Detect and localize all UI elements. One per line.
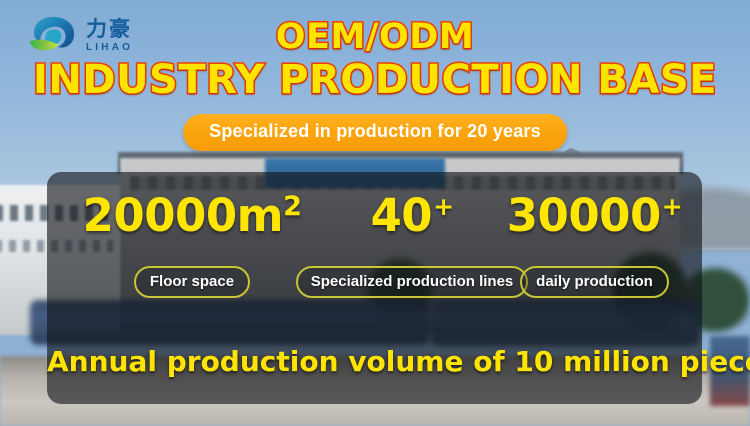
stats-labels-row: Floor space Specialized production lines… — [47, 266, 702, 298]
stat-label-floor-space: Floor space — [134, 266, 250, 298]
stat-value-floor-space: 20000m2 — [47, 190, 337, 242]
stats-numbers-row: 20000m2 40+ 30000+ — [47, 190, 702, 242]
stat-item-daily-production: 30000+ — [487, 190, 702, 242]
stat-label-wrap-floor-space: Floor space — [47, 266, 337, 298]
experience-badge: Specialized in production for 20 years — [183, 114, 567, 151]
headline-line-1: OEM/ODM — [0, 18, 750, 56]
stat-label-wrap-daily-production: daily production — [487, 266, 702, 298]
panel-footer-text: Annual production volume of 10 million p… — [47, 345, 702, 378]
stats-panel: 20000m2 40+ 30000+ Floor space Specializ… — [47, 172, 702, 404]
stat-value-production-lines: 40+ — [337, 190, 487, 242]
stat-item-floor-space: 20000m2 — [47, 190, 337, 242]
stat-item-production-lines: 40+ — [337, 190, 487, 242]
promotional-banner: 力豪 LIHAO OEM/ODM INDUSTRY PRODUCTION BAS… — [0, 0, 750, 426]
headline: OEM/ODM INDUSTRY PRODUCTION BASE — [0, 18, 750, 102]
stat-value-daily-production: 30000+ — [487, 190, 702, 242]
stat-label-wrap-production-lines: Specialized production lines — [337, 266, 487, 298]
headline-line-2: INDUSTRY PRODUCTION BASE — [0, 58, 750, 102]
stat-label-daily-production: daily production — [520, 266, 669, 298]
